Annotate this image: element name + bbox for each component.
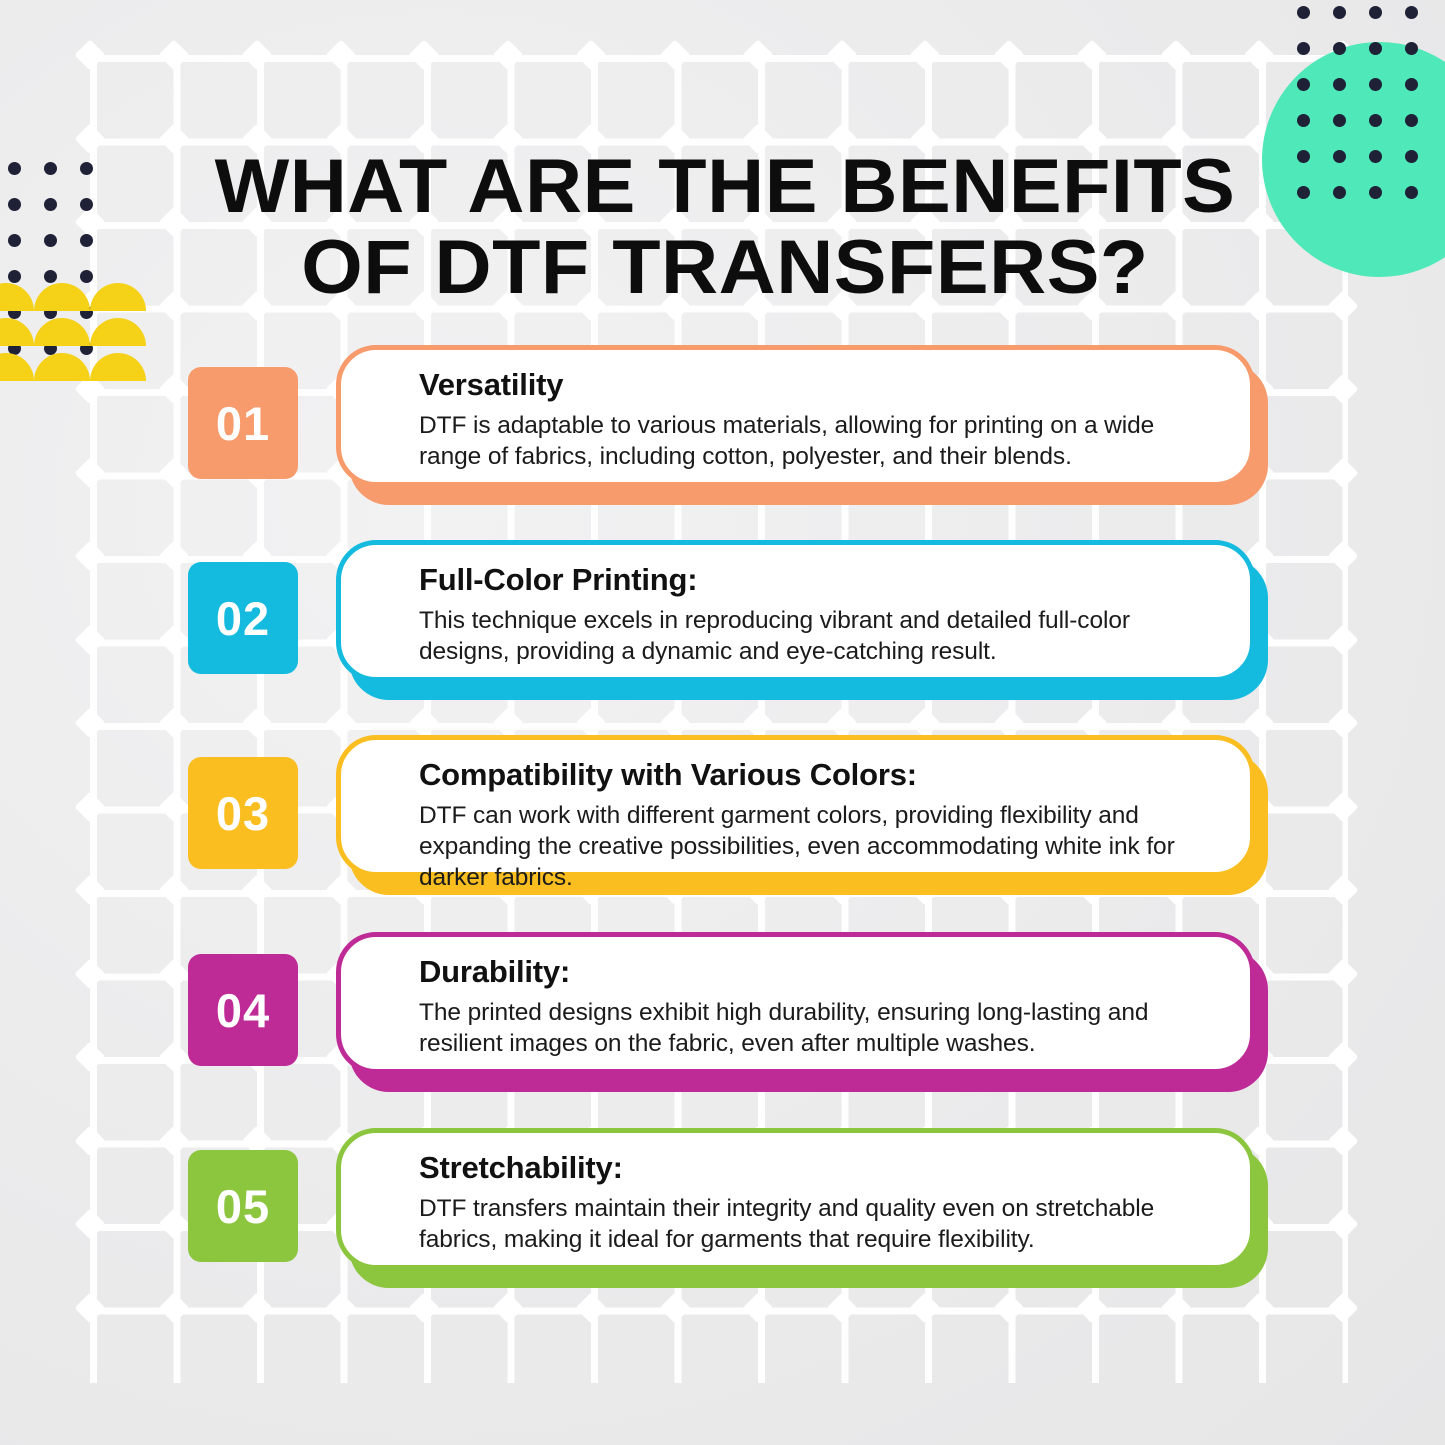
grid-diamond <box>74 1125 105 1156</box>
grid-diamond <box>158 791 189 822</box>
grid-diamond <box>241 1292 272 1323</box>
grid-diamond <box>993 1292 1024 1323</box>
grid-diamond <box>1160 39 1191 70</box>
card-shell: Full-Color Printing:This technique excel… <box>336 540 1268 700</box>
decorative-dot <box>8 198 21 211</box>
decorative-dot <box>80 234 93 247</box>
grid-diamond <box>826 1292 857 1323</box>
grid-diamond <box>993 707 1024 738</box>
decorative-dot <box>8 162 21 175</box>
grid-diamond <box>659 1292 690 1323</box>
grid-diamond <box>74 624 105 655</box>
yellow-semicircle <box>90 353 146 381</box>
grid-diamond <box>241 39 272 70</box>
card-description: DTF transfers maintain their integrity a… <box>419 1193 1216 1255</box>
grid-diamond <box>1076 39 1107 70</box>
grid-diamond <box>1327 373 1358 404</box>
grid-diamond <box>158 624 189 655</box>
card-number-badge: 05 <box>188 1150 298 1262</box>
grid-diamond <box>158 457 189 488</box>
benefit-card-04: 04Durability:The printed designs exhibit… <box>188 932 1268 1092</box>
grid-diamond <box>1327 1292 1358 1323</box>
grid-diamond <box>158 39 189 70</box>
yellow-semicircle <box>0 283 34 311</box>
grid-diamond <box>826 707 857 738</box>
grid-diamond <box>325 1292 356 1323</box>
grid-diamond <box>1243 39 1274 70</box>
grid-diamond <box>74 540 105 571</box>
grid-diamond <box>1076 1292 1107 1323</box>
grid-diamond <box>74 1041 105 1072</box>
grid-diamond <box>909 1292 940 1323</box>
grid-diamond <box>158 707 189 738</box>
decorative-dot <box>80 162 93 175</box>
card-description: DTF is adaptable to various materials, a… <box>419 410 1216 472</box>
grid-diamond <box>158 958 189 989</box>
grid-diamond <box>325 707 356 738</box>
decorative-dot <box>44 198 57 211</box>
card-number-label: 04 <box>216 983 270 1038</box>
card-description: DTF can work with different garment colo… <box>419 800 1216 893</box>
decorative-dot <box>1405 6 1418 19</box>
card-number-label: 05 <box>216 1179 270 1234</box>
grid-diamond <box>74 958 105 989</box>
grid-diamond <box>74 123 105 154</box>
grid-diamond <box>1327 1041 1358 1072</box>
grid-diamond <box>492 1292 523 1323</box>
card-heading: Durability: <box>419 953 1216 991</box>
card-number-label: 03 <box>216 786 270 841</box>
grid-diamond <box>74 1292 105 1323</box>
grid-diamond <box>408 707 439 738</box>
grid-diamond <box>1327 874 1358 905</box>
grid-diamond <box>1076 707 1107 738</box>
decorative-dot <box>8 270 21 283</box>
grid-diamond <box>408 1292 439 1323</box>
grid-diamond <box>1327 1125 1358 1156</box>
page-title: WHAT ARE THE BENEFITS OF DTF TRANSFERS? <box>158 146 1292 308</box>
yellow-semicircle <box>0 353 34 381</box>
grid-diamond <box>1160 1292 1191 1323</box>
card-body: Durability:The printed designs exhibit h… <box>336 932 1255 1074</box>
grid-diamond <box>492 39 523 70</box>
card-number-label: 01 <box>216 396 270 451</box>
decorative-dot <box>1297 6 1310 19</box>
yellow-semicircle <box>34 353 90 381</box>
card-number-badge: 04 <box>188 954 298 1066</box>
decorative-dot <box>80 198 93 211</box>
card-shell: Stretchability:DTF transfers maintain th… <box>336 1128 1268 1288</box>
grid-diamond <box>74 206 105 237</box>
decorative-dot <box>80 270 93 283</box>
grid-diamond <box>158 1208 189 1239</box>
grid-diamond <box>575 39 606 70</box>
benefit-card-02: 02Full-Color Printing:This technique exc… <box>188 540 1268 700</box>
card-number-label: 02 <box>216 591 270 646</box>
card-number-badge: 02 <box>188 562 298 674</box>
grid-diamond <box>74 1208 105 1239</box>
grid-diamond <box>909 707 940 738</box>
benefit-card-03: 03Compatibility with Various Colors:DTF … <box>188 735 1268 895</box>
decorative-dot <box>44 270 57 283</box>
card-description: This technique excels in reproducing vib… <box>419 605 1216 667</box>
grid-diamond <box>1327 791 1358 822</box>
grid-diamond <box>909 39 940 70</box>
benefit-card-01: 01VersatilityDTF is adaptable to various… <box>188 345 1268 505</box>
card-heading: Compatibility with Various Colors: <box>419 756 1216 794</box>
card-heading: Stretchability: <box>419 1149 1216 1187</box>
card-body: VersatilityDTF is adaptable to various m… <box>336 345 1255 487</box>
card-shell: Durability:The printed designs exhibit h… <box>336 932 1268 1092</box>
yellow-semicircle <box>90 283 146 311</box>
grid-diamond <box>1327 958 1358 989</box>
card-shell: Compatibility with Various Colors:DTF ca… <box>336 735 1268 895</box>
grid-diamond <box>325 39 356 70</box>
grid-diamond <box>742 39 773 70</box>
grid-diamond <box>158 540 189 571</box>
grid-diamond <box>1327 707 1358 738</box>
yellow-semicircle <box>0 318 34 346</box>
grid-diamond <box>74 39 105 70</box>
decorative-dot <box>1297 42 1310 55</box>
grid-diamond <box>993 39 1024 70</box>
card-heading: Versatility <box>419 366 1216 404</box>
grid-diamond <box>1327 540 1358 571</box>
grid-diamond <box>158 1041 189 1072</box>
yellow-semicircle <box>34 318 90 346</box>
grid-diamond <box>158 1292 189 1323</box>
grid-diamond <box>74 791 105 822</box>
grid-diamond <box>158 373 189 404</box>
card-body: Compatibility with Various Colors:DTF ca… <box>336 735 1255 877</box>
grid-diamond <box>1243 1292 1274 1323</box>
yellow-semicircle-pattern <box>0 283 158 388</box>
grid-diamond <box>742 1292 773 1323</box>
grid-diamond <box>575 1292 606 1323</box>
card-heading: Full-Color Printing: <box>419 561 1216 599</box>
card-body: Stretchability:DTF transfers maintain th… <box>336 1128 1255 1270</box>
infographic-poster: WHAT ARE THE BENEFITS OF DTF TRANSFERS? … <box>0 0 1445 1445</box>
grid-diamond <box>74 874 105 905</box>
card-body: Full-Color Printing:This technique excel… <box>336 540 1255 682</box>
yellow-semicircle <box>90 318 146 346</box>
grid-diamond <box>408 39 439 70</box>
grid-diamond <box>1243 707 1274 738</box>
grid-diamond <box>826 39 857 70</box>
grid-diamond <box>659 707 690 738</box>
decorative-dot <box>8 234 21 247</box>
benefit-card-05: 05Stretchability:DTF transfers maintain … <box>188 1128 1268 1288</box>
grid-diamond <box>659 39 690 70</box>
card-number-badge: 01 <box>188 367 298 479</box>
yellow-semicircle <box>34 283 90 311</box>
card-shell: VersatilityDTF is adaptable to various m… <box>336 345 1268 505</box>
decorative-dot <box>1369 6 1382 19</box>
decorative-dot <box>44 234 57 247</box>
grid-diamond <box>1327 1208 1358 1239</box>
decorative-dot <box>1333 6 1346 19</box>
grid-diamond <box>742 707 773 738</box>
card-description: The printed designs exhibit high durabil… <box>419 997 1216 1059</box>
grid-diamond <box>1160 707 1191 738</box>
grid-diamond <box>1327 624 1358 655</box>
grid-diamond <box>492 707 523 738</box>
grid-diamond <box>158 874 189 905</box>
grid-diamond <box>1327 290 1358 321</box>
grid-diamond <box>575 707 606 738</box>
grid-diamond <box>74 707 105 738</box>
grid-diamond <box>1327 457 1358 488</box>
card-number-badge: 03 <box>188 757 298 869</box>
grid-diamond <box>158 1125 189 1156</box>
grid-diamond <box>74 457 105 488</box>
decorative-dot <box>44 162 57 175</box>
grid-diamond <box>241 707 272 738</box>
